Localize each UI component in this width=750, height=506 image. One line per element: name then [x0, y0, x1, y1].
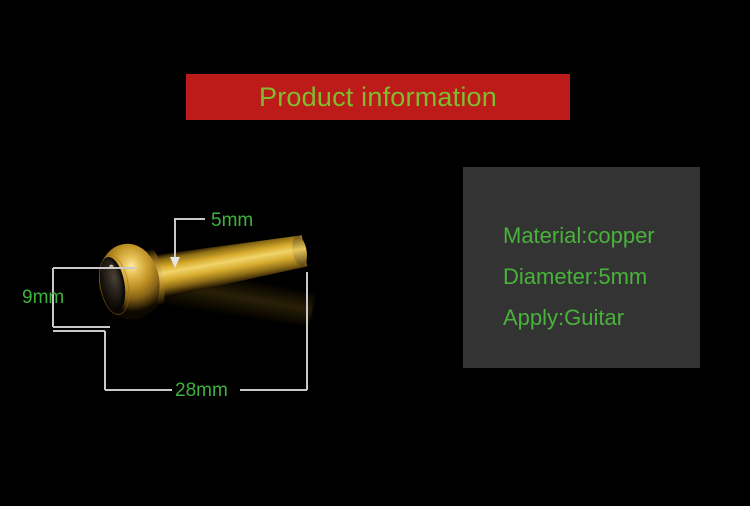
product-information-graphic: Product information — [0, 0, 750, 506]
page-title: Product information — [259, 84, 497, 111]
product-photo — [0, 150, 340, 420]
spec-material: Material:copper — [503, 225, 655, 247]
spec-panel: Material:copper Diameter:5mm Apply:Guita… — [463, 167, 700, 368]
dimension-label-9mm: 9mm — [22, 288, 64, 307]
title-banner: Product information — [186, 74, 570, 120]
spec-apply: Apply:Guitar — [503, 307, 624, 329]
dimension-label-28mm: 28mm — [175, 381, 228, 400]
spec-diameter: Diameter:5mm — [503, 266, 647, 288]
dimension-label-5mm: 5mm — [211, 211, 253, 230]
pin-shaft — [151, 229, 308, 299]
